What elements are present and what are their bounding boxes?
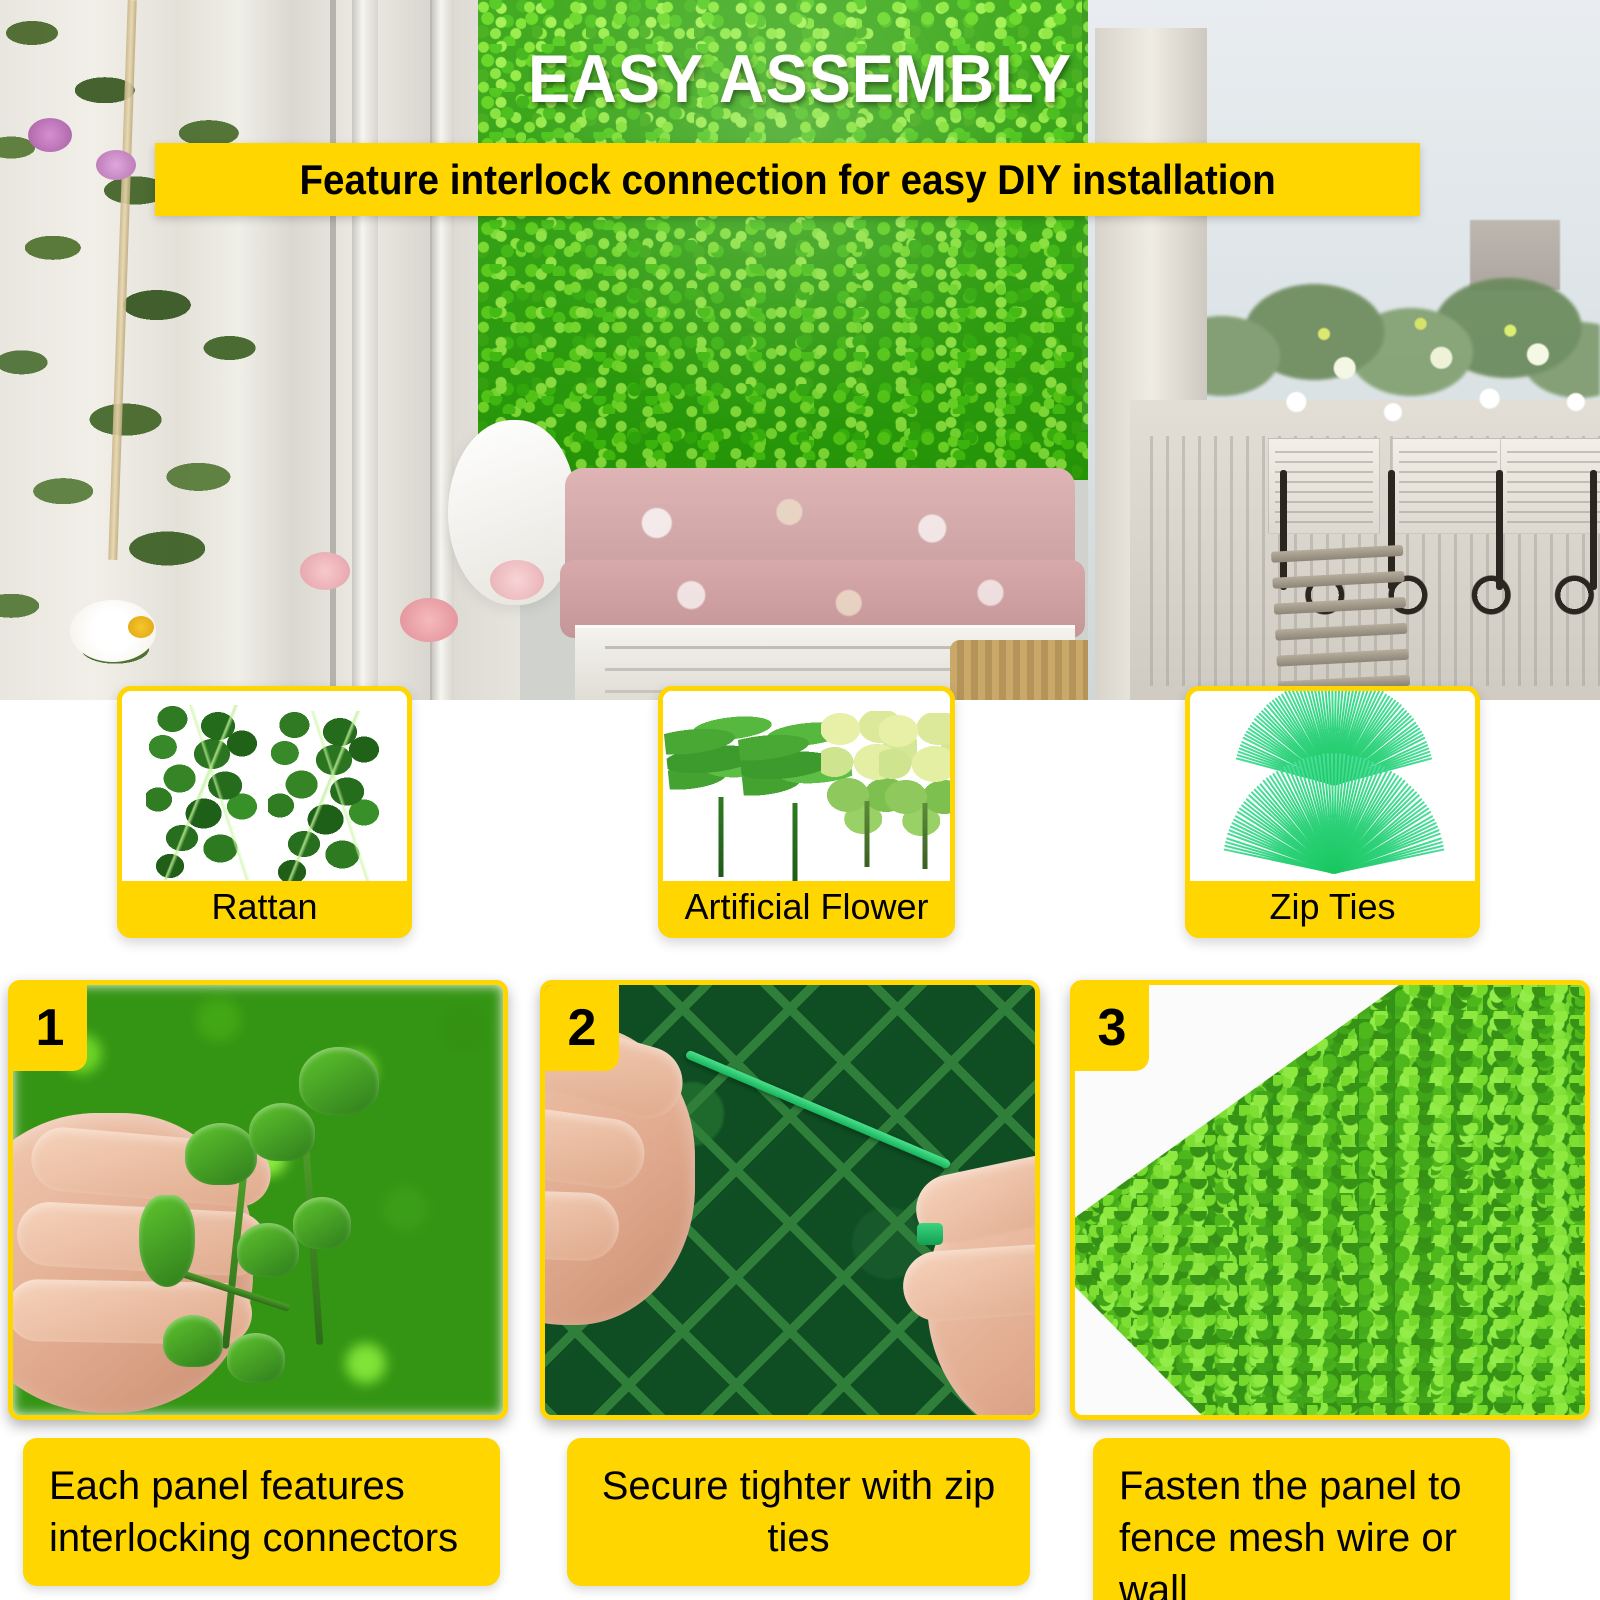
artificial-flower-image [663,691,950,881]
purple-flower [28,118,72,152]
accessory-card-zip-ties[interactable]: Zip Ties [1185,686,1480,938]
purple-flower-2 [96,150,136,180]
step-panel-2[interactable]: 2 [540,980,1040,1420]
wicker-basket [950,640,1110,706]
accessory-card-artificial-flower[interactable]: Artificial Flower [658,686,955,938]
zip-ties-label: Zip Ties [1190,881,1475,933]
step-1-caption: Each panel features interlocking connect… [23,1438,500,1586]
step-2-number: 2 [545,985,619,1071]
accessory-card-rattan[interactable]: Rattan [117,686,412,938]
rattan-label: Rattan [122,881,407,933]
flower-center [128,616,154,638]
sprig-leaf-8 [227,1333,285,1383]
step-1-number: 1 [13,985,87,1071]
pink-flower-2 [300,552,350,590]
step-3-caption: Fasten the panel to fence mesh wire or w… [1093,1438,1510,1600]
sprig-leaf-2 [249,1103,315,1161]
step-panel-3[interactable]: 3 [1070,980,1590,1420]
subtitle-text: Feature interlock connection for easy DI… [299,156,1275,204]
pink-flower [400,598,458,642]
sprig-leaf-5 [237,1223,299,1277]
sprig-leaf-7 [163,1315,223,1367]
white-flowering-plants [1255,300,1600,470]
sprig-leaf-3 [299,1047,379,1115]
artificial-flower-label: Artificial Flower [663,881,950,933]
sprig-leaf-1 [185,1123,257,1185]
page-title: EASY ASSEMBLY [56,40,1544,118]
step-3-number: 3 [1075,985,1149,1071]
leaf-bush-2 [879,713,950,863]
zip-ties-image [1190,691,1475,881]
zip-tie-head [917,1223,943,1245]
accessories-band: Rattan [0,700,1600,948]
subtitle-banner: Feature interlock connection for easy DI… [155,143,1420,216]
step-3-image [1075,985,1585,1415]
sprig-leaf-6 [293,1197,351,1249]
step-panel-1[interactable]: 1 [8,980,508,1420]
ivy-bundle-2 [268,711,388,881]
folding-chair [1271,544,1419,706]
sprig-leaf-4 [139,1195,195,1287]
infographic-page: EASY ASSEMBLY Feature interlock connecti… [0,0,1600,1600]
pink-flower-3 [490,560,544,600]
rattan-image [122,691,407,881]
ivy-bundle-1 [146,705,266,880]
step-2-caption: Secure tighter with zip ties [567,1438,1030,1586]
hero-photo: EASY ASSEMBLY [0,0,1600,706]
